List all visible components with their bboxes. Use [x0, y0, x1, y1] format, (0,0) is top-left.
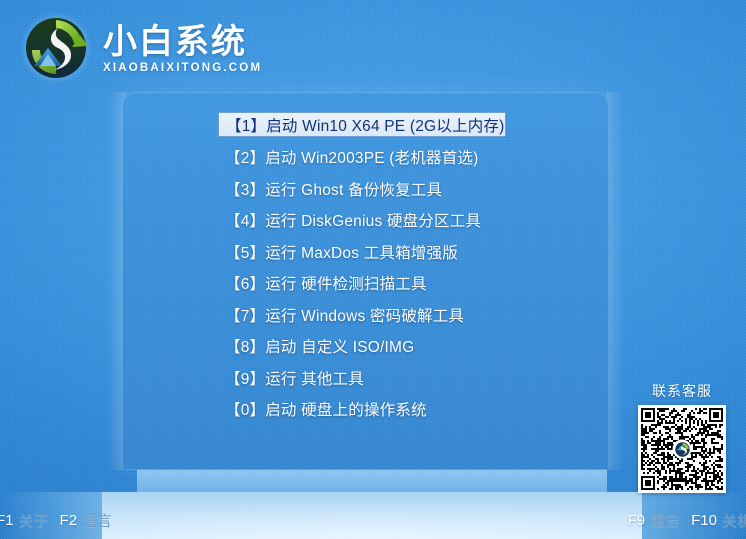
brand-logo: 小白系统 XIAOBAIXITONG.COM — [18, 10, 262, 86]
menu-item-label: 运行 Ghost 备份恢复工具 — [265, 178, 442, 200]
function-key-label: 关机 — [722, 510, 746, 531]
boot-menu-screen: 小白系统 XIAOBAIXITONG.COM 【1】启动 Win10 X64 P… — [0, 0, 746, 539]
menu-item-label: 启动 Win2003PE (老机器首选) — [265, 146, 478, 168]
menu-item-4[interactable]: 【4】运行 DiskGenius 硬盘分区工具 — [218, 209, 518, 232]
function-key-name: F10 — [691, 512, 717, 529]
function-key-f9[interactable]: F9重启 — [628, 510, 681, 531]
brand-name-cn: 小白系统 — [103, 23, 262, 61]
menu-item-key: 【0】 — [225, 398, 265, 420]
menu-item-label: 运行 Windows 密码破解工具 — [265, 304, 464, 326]
menu-item-label: 运行 MaxDos 工具箱增强版 — [265, 241, 458, 263]
menu-item-10[interactable]: 【0】启动 硬盘上的操作系统 — [218, 398, 518, 421]
menu-item-key: 【3】 — [225, 178, 265, 200]
brand-logo-icon — [673, 440, 692, 459]
menu-item-9[interactable]: 【9】运行 其他工具 — [218, 366, 518, 389]
refresh-globe-logo-icon — [18, 10, 94, 86]
function-key-label: 语言 — [82, 510, 112, 531]
menu-item-key: 【5】 — [225, 241, 265, 263]
customer-support-block: 联系客服 — [632, 381, 732, 493]
menu-item-1[interactable]: 【1】启动 Win10 X64 PE (2G以上内存) — [218, 112, 506, 137]
function-key-name: F2 — [60, 512, 78, 529]
menu-item-key: 【2】 — [225, 146, 265, 168]
boot-menu-list[interactable]: 【1】启动 Win10 X64 PE (2G以上内存)【2】启动 Win2003… — [218, 112, 518, 429]
menu-item-5[interactable]: 【5】运行 MaxDos 工具箱增强版 — [218, 240, 518, 263]
menu-item-8[interactable]: 【8】启动 自定义 ISO/IMG — [218, 335, 518, 358]
brand-text: 小白系统 XIAOBAIXITONG.COM — [103, 23, 262, 76]
menu-item-label: 启动 硬盘上的操作系统 — [265, 398, 427, 420]
menu-item-6[interactable]: 【6】运行 硬件检测扫描工具 — [218, 272, 518, 295]
function-key-label: 关于 — [19, 510, 49, 531]
menu-item-7[interactable]: 【7】运行 Windows 密码破解工具 — [218, 303, 518, 326]
menu-item-label: 运行 硬件检测扫描工具 — [265, 272, 427, 294]
menu-item-key: 【6】 — [225, 272, 265, 294]
menu-item-key: 【4】 — [225, 209, 265, 231]
function-key-name: F9 — [628, 512, 646, 529]
function-key-name: F1 — [0, 512, 14, 529]
function-key-f1[interactable]: F1关于 — [0, 510, 49, 531]
brand-name-en: XIAOBAIXITONG.COM — [103, 62, 262, 76]
menu-item-key: 【1】 — [226, 114, 266, 136]
function-key-label: 重启 — [650, 510, 680, 531]
menu-item-key: 【8】 — [225, 335, 265, 357]
function-key-f2[interactable]: F2语言 — [60, 510, 113, 531]
menu-item-key: 【9】 — [225, 367, 265, 389]
function-bar-left: F1关于F2语言 — [0, 510, 112, 531]
menu-item-key: 【7】 — [225, 304, 265, 326]
menu-item-2[interactable]: 【2】启动 Win2003PE (老机器首选) — [218, 146, 518, 169]
menu-item-label: 启动 Win10 X64 PE (2G以上内存) — [266, 114, 504, 136]
qr-code-icon[interactable] — [638, 405, 726, 493]
menu-item-label: 运行 其他工具 — [265, 367, 364, 389]
menu-item-label: 运行 DiskGenius 硬盘分区工具 — [265, 209, 481, 231]
function-bar-right: F9重启F10关机 — [628, 510, 746, 531]
menu-item-label: 启动 自定义 ISO/IMG — [265, 335, 414, 357]
support-title: 联系客服 — [632, 381, 732, 401]
function-key-f10[interactable]: F10关机 — [691, 510, 746, 531]
menu-item-3[interactable]: 【3】运行 Ghost 备份恢复工具 — [218, 177, 518, 200]
